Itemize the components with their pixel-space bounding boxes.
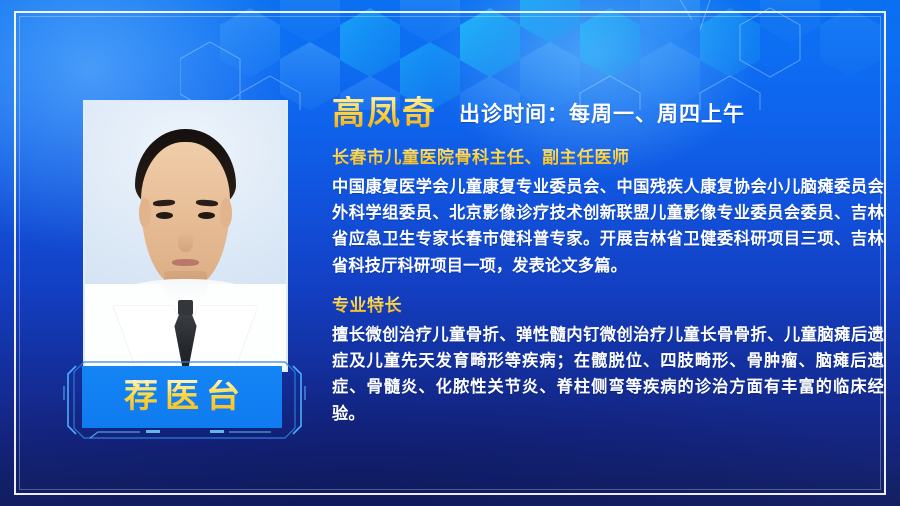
clinic-schedule: 出诊时间：每周一、周四上午 <box>459 103 745 129</box>
portrait-nose <box>178 231 192 252</box>
doctor-name: 高凤奇 <box>332 96 437 129</box>
portrait-eye-left <box>156 212 173 219</box>
portrait-ear-right <box>220 198 232 227</box>
doctor-portrait <box>83 100 288 372</box>
doctor-profile-card: 荐医台 高凤奇 出诊时间：每周一、周四上午 长春市儿童医院骨科主任、副主任医师 … <box>0 0 900 506</box>
portrait-mouth <box>172 259 198 266</box>
nameplate-body: 荐医台 <box>82 366 282 428</box>
specialty-text: 擅长微创治疗儿童骨折、弹性髓内钉微创治疗儿童长骨骨折、儿童脑瘫后遗症及儿童先天发… <box>332 322 884 427</box>
biography-text: 中国康复医学会儿童康复专业委员会、中国残疾人康复协会小儿脑瘫委员会外科学组委员、… <box>332 174 884 279</box>
portrait-photo <box>85 102 286 370</box>
portrait-eye-right <box>198 212 215 219</box>
portrait-necktie-knot <box>178 300 193 315</box>
nameplate-badge: 荐医台 <box>62 360 307 440</box>
portrait-frame <box>83 100 288 372</box>
specialty-heading: 专业特长 <box>332 291 884 316</box>
profile-content: 高凤奇 出诊时间：每周一、周四上午 长春市儿童医院骨科主任、副主任医师 中国康复… <box>332 96 884 427</box>
hexagon-pattern-decoration <box>180 0 900 110</box>
nameplate-label: 荐医台 <box>117 380 247 414</box>
position-title: 长春市儿童医院骨科主任、副主任医师 <box>332 143 884 168</box>
headline-row: 高凤奇 出诊时间：每周一、周四上午 <box>332 96 884 129</box>
